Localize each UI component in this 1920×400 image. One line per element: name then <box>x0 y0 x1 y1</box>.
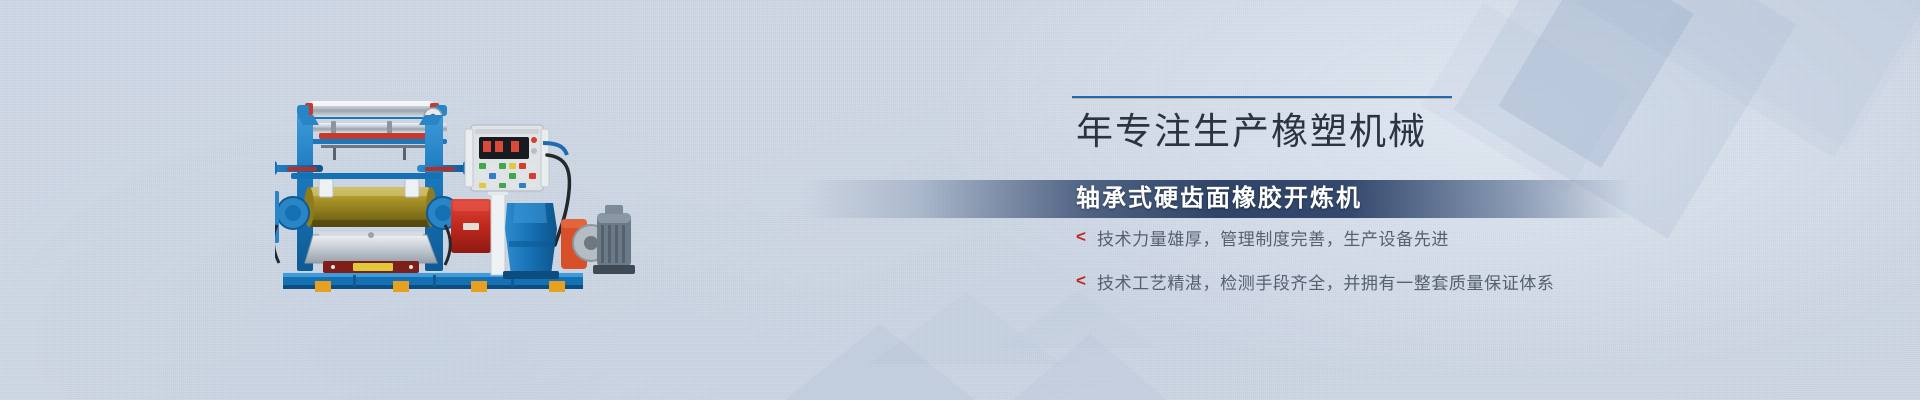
page-title: 年专注生产橡塑机械 <box>1076 111 1622 155</box>
title-divider <box>1072 96 1452 100</box>
list-item: < 技术工艺精湛，检测手段齐全，并拥有一整套质量保证体系 <box>1076 269 1622 294</box>
hero-banner: 年专注生产橡塑机械 轴承式硬齿面橡胶开炼机 < 技术力量雄厚，管理制度完善，生产… <box>0 0 1920 400</box>
decor-shape-3 <box>1576 0 1920 158</box>
decor-polygon-3 <box>870 292 1062 364</box>
list-item-label: 技术力量雄厚，管理制度完善，生产设备先进 <box>1097 225 1449 250</box>
chevron-left-icon: < <box>1076 228 1086 245</box>
chevron-left-icon: < <box>1076 272 1086 289</box>
product-image-rubber-mixing-mill <box>275 95 635 295</box>
reducer-housing <box>503 203 559 279</box>
discharge-pan <box>305 232 437 263</box>
top-roller-assembly <box>297 101 447 160</box>
electric-motor <box>593 205 635 274</box>
divider-line-tan <box>1072 98 1452 99</box>
decor-polygon-1 <box>760 324 1000 400</box>
headline-block: 年专注生产橡塑机械 轴承式硬齿面橡胶开炼机 < 技术力量雄厚，管理制度完善，生产… <box>1062 96 1622 313</box>
subtitle-bar: 轴承式硬齿面橡胶开炼机 <box>804 180 1630 218</box>
list-item-label: 技术工艺精湛，检测手段齐全，并拥有一整套质量保证体系 <box>1097 269 1555 294</box>
decor-polygon-2 <box>950 334 1230 400</box>
list-item: < 技术力量雄厚，管理制度完善，生产设备先进 <box>1076 225 1622 250</box>
feature-list: < 技术力量雄厚，管理制度完善，生产设备先进 < 技术工艺精湛，检测手段齐全，并… <box>1076 225 1622 294</box>
decor-shape-5 <box>1659 0 1920 149</box>
subtitle-text: 轴承式硬齿面橡胶开炼机 <box>1076 180 1362 218</box>
control-panel <box>465 125 549 191</box>
